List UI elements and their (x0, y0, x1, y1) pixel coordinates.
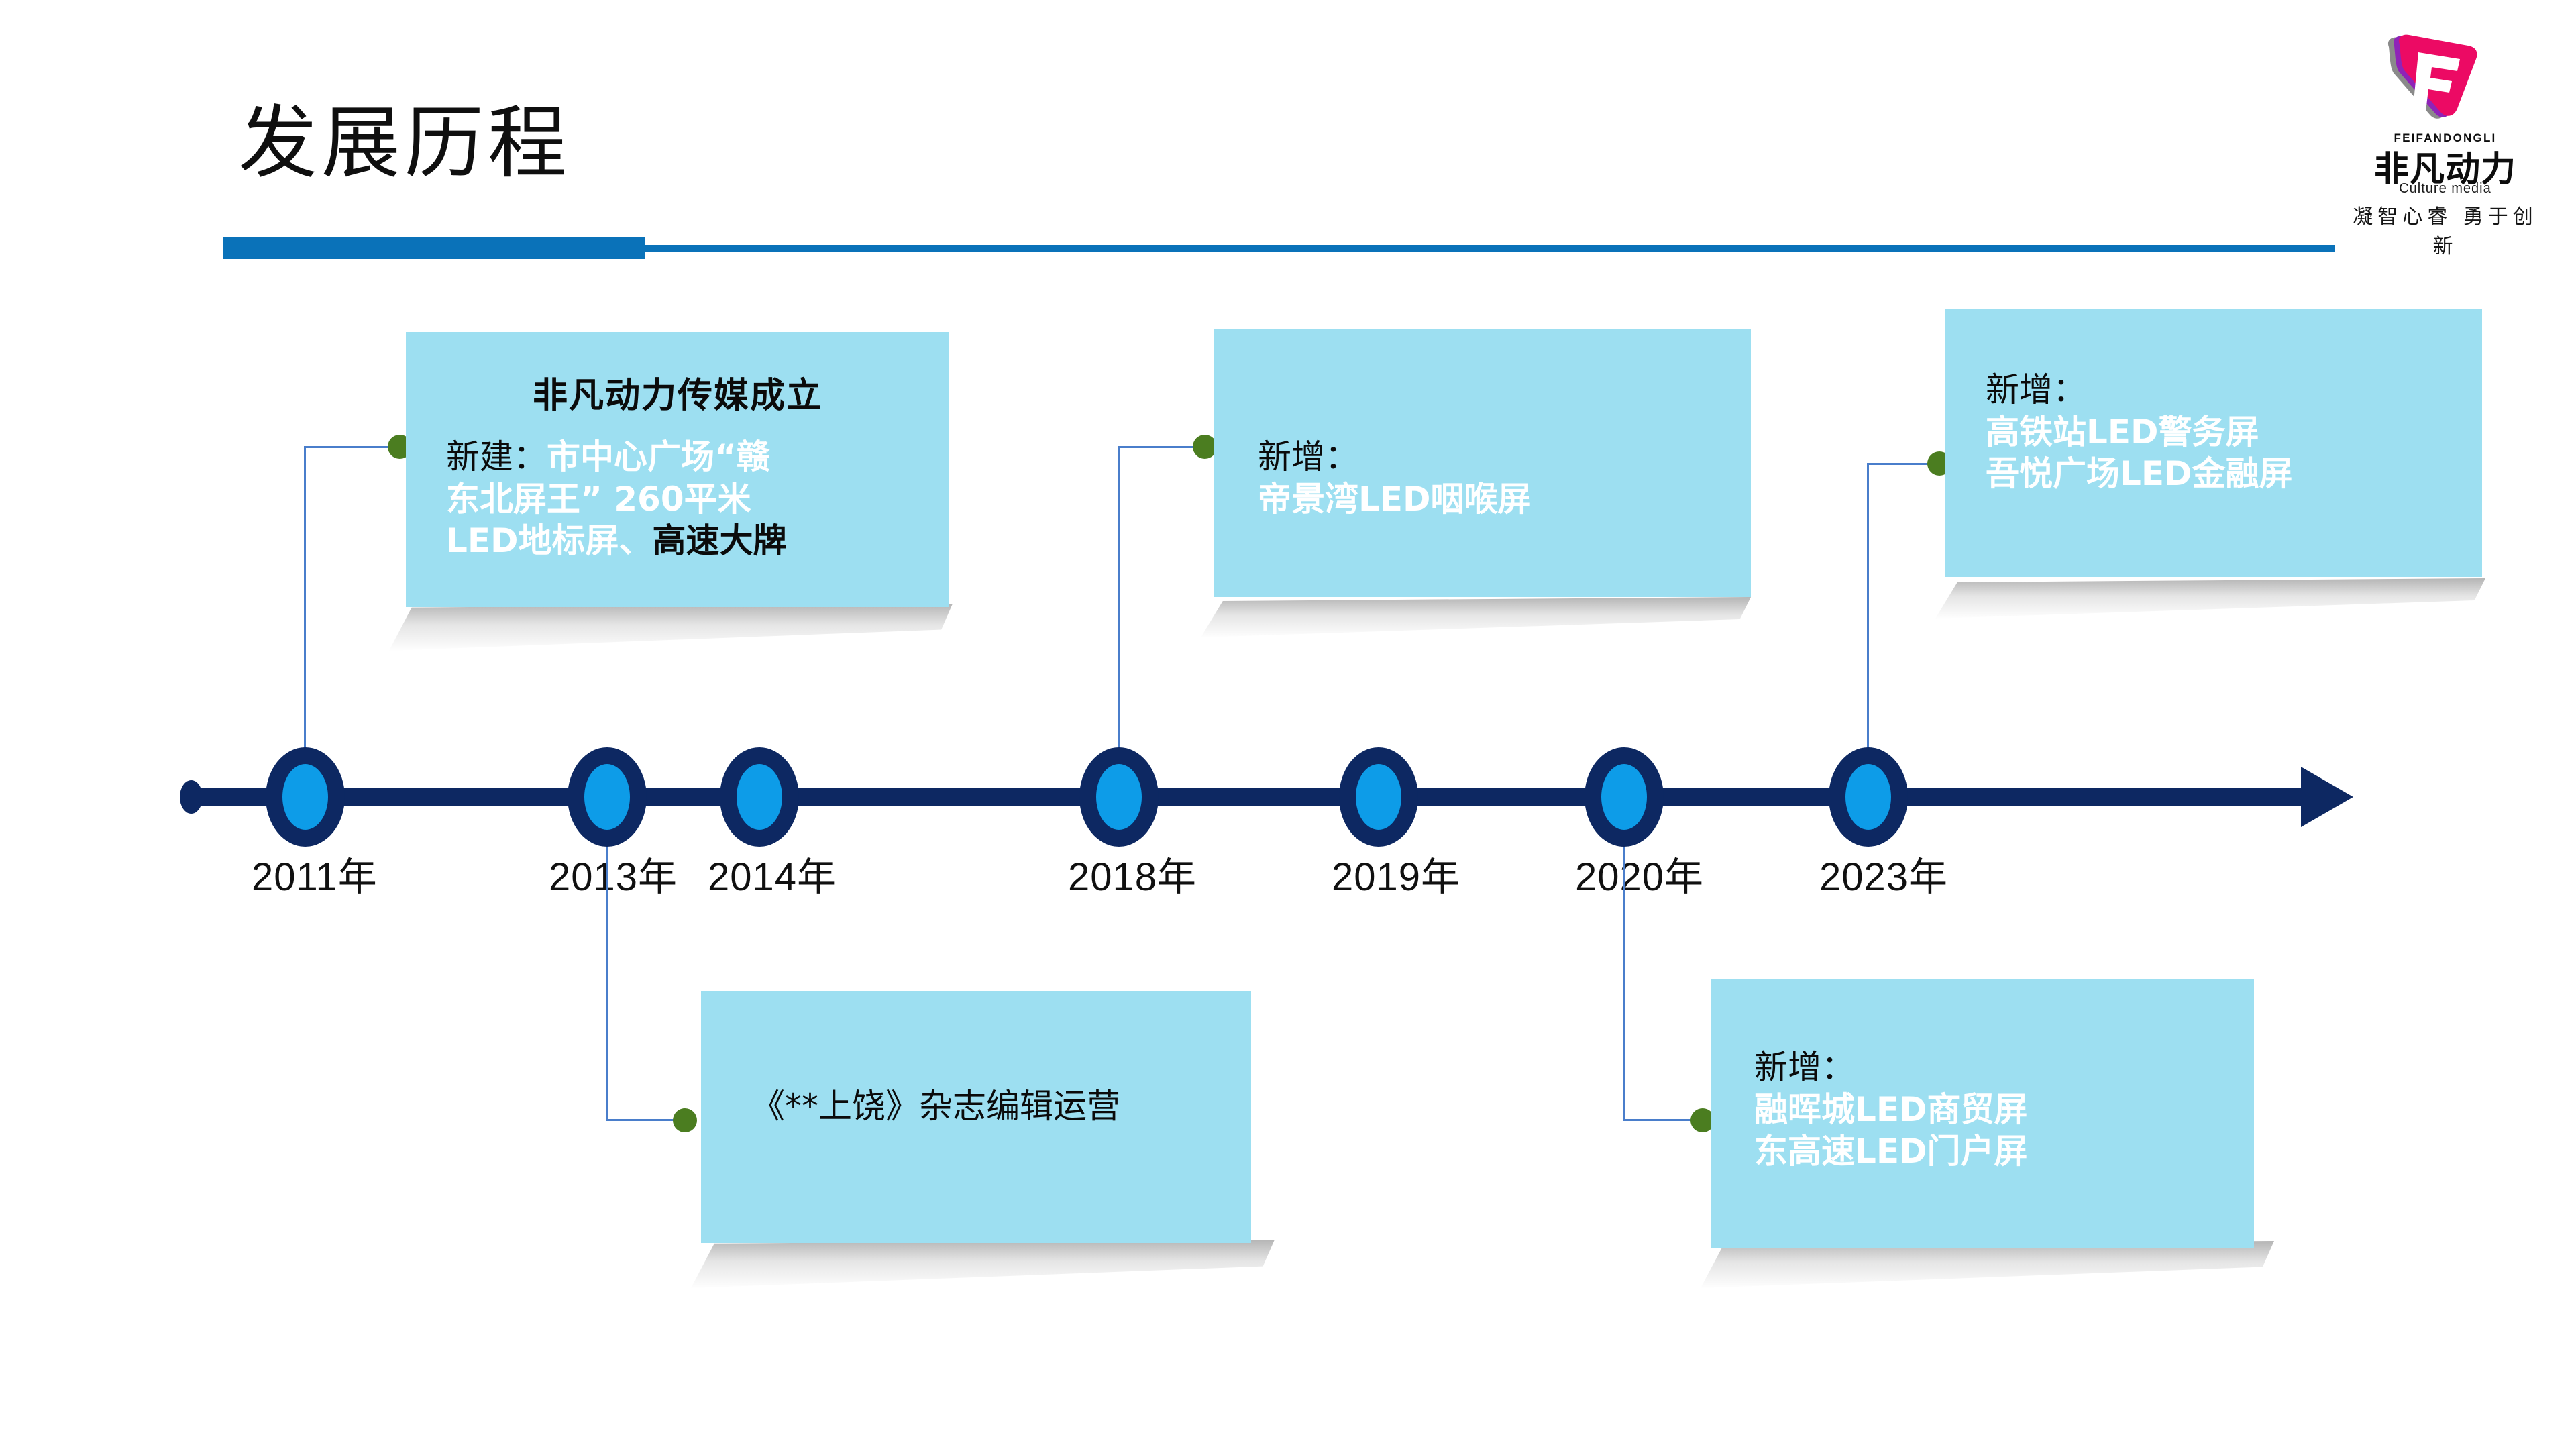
card-body-2011: 新建：市中心广场“赣 东北屏王” 260平米 LED地标屏、高速大牌 (406, 436, 949, 562)
timeline-node-2023[interactable] (1829, 747, 1908, 847)
card-line: 东高速LED门户屏 (1754, 1130, 2254, 1173)
card-line: 融晖城LED商贸屏 (1754, 1089, 2254, 1131)
card-line: 东北屏王” 260平米 (446, 478, 949, 521)
timeline-node-2011[interactable] (266, 747, 345, 847)
card-title-2011: 非凡动力传媒成立 (406, 367, 949, 417)
year-label-2019: 2019年 (1332, 845, 1460, 902)
card-2013[interactable]: 《**上饶》杂志编辑运营 (701, 991, 1251, 1243)
timeline-node-2014[interactable] (720, 747, 799, 847)
card-shadow-2023 (1935, 578, 2485, 619)
card-line: 新增： (1986, 369, 2482, 411)
card-line: 帝景湾LED咽喉屏 (1258, 478, 1751, 521)
card-run-label: 新增： (1754, 1048, 1855, 1087)
card-shadow-2011 (389, 604, 953, 651)
logo-tagline: 凝智心睿 勇于创新 (2351, 200, 2539, 259)
card-shadow-2018 (1201, 597, 1751, 637)
card-run-value: 吾悦广场LED金融屏 (1986, 454, 2293, 493)
year-label-2014: 2014年 (708, 845, 837, 902)
card-2018[interactable]: 新增： 帝景湾LED咽喉屏 (1214, 329, 1751, 597)
connector-segment-vertical (1623, 835, 1625, 1121)
timeline-node-2018[interactable] (1079, 747, 1159, 847)
card-run-value: 帝景湾LED咽喉屏 (1258, 480, 1532, 519)
year-label-2018: 2018年 (1068, 845, 1197, 902)
card-body-2023: 新增： 高铁站LED警务屏 吾悦广场LED金融屏 (1945, 369, 2482, 495)
card-line: LED地标屏、高速大牌 (446, 520, 949, 562)
card-2011[interactable]: 非凡动力传媒成立 新建：市中心广场“赣 东北屏王” 260平米 LED地标屏、高… (406, 332, 949, 607)
company-logo: FEIFANDONGLI 非凡动力 Culture media 凝智心睿 勇于创… (2345, 12, 2546, 220)
card-run-value: 融晖城LED商贸屏 (1754, 1090, 2028, 1129)
logo-f-mark-icon (2377, 32, 2477, 123)
year-label-2011: 2011年 (252, 845, 378, 902)
card-run-label: 新建： (446, 437, 547, 476)
card-shadow-2020 (1701, 1241, 2274, 1288)
logo-english-subtitle: Culture media (2365, 181, 2526, 197)
year-label-2020: 2020年 (1575, 845, 1704, 902)
card-line: 新增： (1258, 436, 1751, 478)
connector-segment-vertical (1118, 446, 1120, 758)
card-run-value: LED地标屏、 (446, 521, 653, 560)
card-body-2013: 《**上饶》杂志编辑运营 (701, 1085, 1251, 1128)
card-run-value: 东北屏王” 260平米 (446, 480, 751, 519)
connector-dot-2013 (673, 1108, 697, 1132)
card-run-value: 高铁站LED警务屏 (1986, 413, 2259, 451)
card-line: 吾悦广场LED金融屏 (1986, 453, 2482, 495)
title-underline-block (223, 237, 645, 259)
connector-segment-vertical (304, 446, 306, 758)
title-underline-rule (645, 245, 2335, 252)
year-label-2023: 2023年 (1819, 845, 1948, 902)
card-shadow-2013 (691, 1240, 1275, 1288)
card-run-label: 《**上饶》杂志编辑运营 (751, 1087, 1120, 1126)
card-2023[interactable]: 新增： 高铁站LED警务屏 吾悦广场LED金融屏 (1945, 309, 2482, 577)
connector-segment-vertical (1867, 463, 1869, 758)
timeline-node-2019[interactable] (1339, 747, 1418, 847)
card-body-2018: 新增： 帝景湾LED咽喉屏 (1214, 436, 1751, 520)
card-run-label: 新增： (1258, 437, 1358, 476)
timeline-axis (182, 788, 2316, 806)
card-2020[interactable]: 新增： 融晖城LED商贸屏 东高速LED门户屏 (1711, 979, 2254, 1248)
connector-segment-vertical (606, 835, 608, 1121)
card-line: 高铁站LED警务屏 (1986, 411, 2482, 453)
card-run-value: 市中心广场“赣 (547, 437, 770, 476)
card-run-label: 新增： (1986, 370, 2086, 409)
timeline-arrow-icon (2301, 767, 2353, 827)
card-line: 新建：市中心广场“赣 (446, 436, 949, 478)
card-body-2020: 新增： 融晖城LED商贸屏 东高速LED门户屏 (1711, 1046, 2254, 1173)
card-line: 新增： (1754, 1046, 2254, 1089)
connector-dot-2018 (1193, 435, 1217, 459)
card-line: 《**上饶》杂志编辑运营 (751, 1085, 1251, 1128)
timeline-node-2020[interactable] (1585, 747, 1664, 847)
card-run-value: 东高速LED门户屏 (1754, 1132, 2028, 1171)
page-title: 发展历程 (238, 101, 571, 188)
timeline-node-2013[interactable] (568, 747, 647, 847)
year-label-2013: 2013年 (549, 845, 678, 902)
card-run-emphasis: 高速大牌 (653, 521, 787, 560)
